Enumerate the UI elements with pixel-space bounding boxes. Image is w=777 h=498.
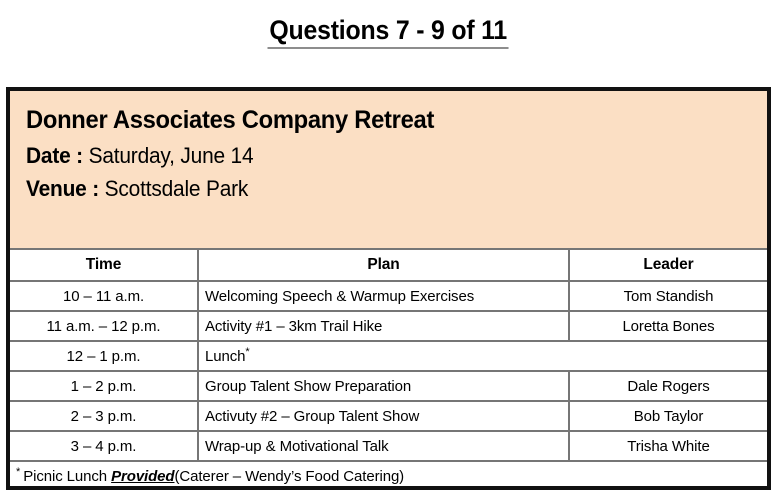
table-row: 2 – 3 p.m.Activuty #2 – Group Talent Sho…	[10, 401, 767, 431]
cell-time: 10 – 11 a.m.	[10, 281, 198, 311]
schedule-table: Time Plan Leader 10 – 11 a.m.Welcoming S…	[10, 248, 767, 490]
event-venue-label: Venue :	[26, 176, 99, 201]
cell-plan: Activuty #2 – Group Talent Show	[198, 401, 569, 431]
cell-plan: Lunch*	[198, 341, 767, 371]
cell-time: 2 – 3 p.m.	[10, 401, 198, 431]
event-date-value: Saturday, June 14	[89, 143, 254, 168]
footnote-text-after: (Caterer – Wendy’s Food Catering)	[175, 468, 405, 485]
schedule-header-row: Time Plan Leader	[10, 249, 767, 281]
cell-leader: Loretta Bones	[569, 311, 767, 341]
cell-time: 1 – 2 p.m.	[10, 371, 198, 401]
footnote-row: *Picnic Lunch Provided(Caterer – Wendy’s…	[10, 461, 767, 490]
column-header-plan: Plan	[198, 249, 569, 281]
retreat-notice-box: Donner Associates Company Retreat Date :…	[6, 87, 771, 490]
cell-plan-text: Lunch	[205, 348, 245, 365]
column-header-time: Time	[10, 249, 198, 281]
event-title: Donner Associates Company Retreat	[26, 103, 730, 139]
page-title-container: Questions 7 - 9 of 11	[0, 0, 777, 79]
event-date-label: Date :	[26, 143, 83, 168]
event-venue-line: Venue : Scottsdale Park	[26, 172, 730, 205]
table-row: 10 – 11 a.m.Welcoming Speech & Warmup Ex…	[10, 281, 767, 311]
event-venue-value: Scottsdale Park	[105, 176, 249, 201]
footnote-reference: *	[245, 346, 249, 358]
cell-time: 3 – 4 p.m.	[10, 431, 198, 461]
footnote-cell: *Picnic Lunch Provided(Caterer – Wendy’s…	[10, 461, 767, 490]
footnote-marker: *	[16, 466, 20, 478]
cell-time: 12 – 1 p.m.	[10, 341, 198, 371]
cell-plan: Wrap-up & Motivational Talk	[198, 431, 569, 461]
cell-plan: Welcoming Speech & Warmup Exercises	[198, 281, 569, 311]
cell-leader: Bob Taylor	[569, 401, 767, 431]
footnote-emphasis: Provided	[111, 468, 174, 485]
footnote-text-before: Picnic Lunch	[23, 468, 111, 485]
column-header-leader: Leader	[569, 249, 767, 281]
table-row: 12 – 1 p.m.Lunch*	[10, 341, 767, 371]
table-row: 3 – 4 p.m.Wrap-up & Motivational TalkTri…	[10, 431, 767, 461]
table-row: 1 – 2 p.m.Group Talent Show PreparationD…	[10, 371, 767, 401]
cell-plan: Activity #1 – 3km Trail Hike	[198, 311, 569, 341]
cell-leader: Tom Standish	[569, 281, 767, 311]
cell-time: 11 a.m. – 12 p.m.	[10, 311, 198, 341]
cell-plan: Group Talent Show Preparation	[198, 371, 569, 401]
event-header: Donner Associates Company Retreat Date :…	[10, 91, 767, 248]
cell-leader: Trisha White	[569, 431, 767, 461]
cell-leader: Dale Rogers	[569, 371, 767, 401]
page-title: Questions 7 - 9 of 11	[268, 16, 509, 48]
table-row: 11 a.m. – 12 p.m.Activity #1 – 3km Trail…	[10, 311, 767, 341]
event-date-line: Date : Saturday, June 14	[26, 139, 730, 172]
